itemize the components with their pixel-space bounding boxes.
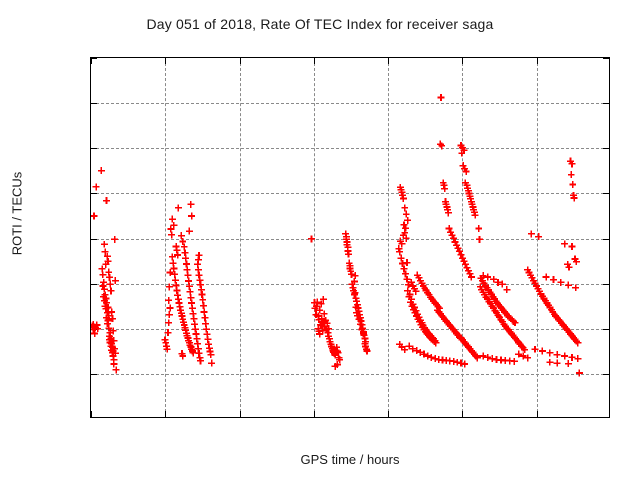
grid-line-horizontal bbox=[91, 329, 609, 330]
x-tick-mark bbox=[165, 411, 166, 417]
x-tick-mark bbox=[462, 411, 463, 417]
y-tick-mark-right bbox=[603, 58, 609, 59]
x-tick-mark-top bbox=[462, 58, 463, 64]
page-title: Day 051 of 2018, Rate Of TEC Index for r… bbox=[0, 16, 640, 32]
grid-line-horizontal bbox=[91, 374, 609, 375]
grid-line-vertical bbox=[537, 58, 538, 417]
grid-line-horizontal bbox=[91, 103, 609, 104]
y-tick-mark bbox=[91, 239, 97, 240]
y-axis-label: ROTI / TECUs bbox=[10, 154, 25, 274]
y-tick-mark bbox=[91, 103, 97, 104]
grid-line-horizontal bbox=[91, 193, 609, 194]
x-tick-mark-top bbox=[240, 58, 241, 64]
x-tick-mark-top bbox=[388, 58, 389, 64]
y-tick-mark-right bbox=[603, 103, 609, 104]
y-tick-mark bbox=[91, 284, 97, 285]
x-tick-mark-top bbox=[537, 58, 538, 64]
grid-line-horizontal bbox=[91, 148, 609, 149]
y-tick-mark-right bbox=[603, 374, 609, 375]
x-tick-mark-top bbox=[91, 58, 92, 64]
y-tick-mark-right bbox=[603, 148, 609, 149]
y-tick-mark-right bbox=[603, 239, 609, 240]
y-tick-mark bbox=[91, 374, 97, 375]
grid-line-vertical bbox=[462, 58, 463, 417]
y-tick-mark-right bbox=[603, 193, 609, 194]
x-tick-mark bbox=[314, 411, 315, 417]
grid-line-vertical bbox=[240, 58, 241, 417]
scatter-points bbox=[91, 58, 609, 417]
y-tick-mark-right bbox=[603, 284, 609, 285]
plot-area: 00.010.020.030.040.050.060.070.080123456… bbox=[90, 57, 610, 418]
x-tick-mark bbox=[537, 411, 538, 417]
grid-line-horizontal bbox=[91, 284, 609, 285]
y-tick-mark-right bbox=[603, 329, 609, 330]
x-tick-mark-top bbox=[165, 58, 166, 64]
chart-page: Day 051 of 2018, Rate Of TEC Index for r… bbox=[0, 0, 640, 480]
grid-line-vertical bbox=[388, 58, 389, 417]
grid-line-vertical bbox=[165, 58, 166, 417]
y-tick-mark bbox=[91, 193, 97, 194]
x-tick-mark-top bbox=[314, 58, 315, 64]
x-tick-mark bbox=[388, 411, 389, 417]
y-tick-mark bbox=[91, 148, 97, 149]
grid-line-vertical bbox=[314, 58, 315, 417]
x-tick-mark bbox=[91, 411, 92, 417]
x-tick-mark bbox=[240, 411, 241, 417]
x-axis-label: GPS time / hours bbox=[90, 452, 610, 467]
y-tick-mark bbox=[91, 329, 97, 330]
grid-line-horizontal bbox=[91, 239, 609, 240]
